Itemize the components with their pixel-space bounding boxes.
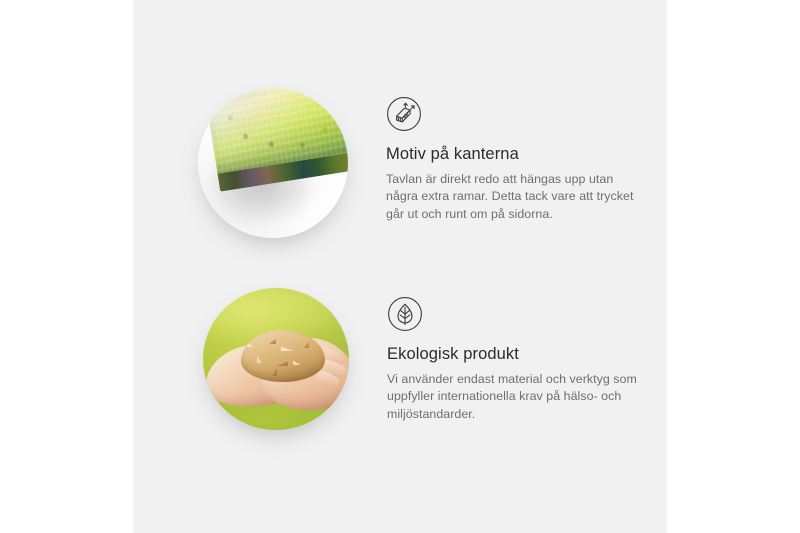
canvas-print-photo [198, 88, 348, 238]
leaf-icon [387, 296, 423, 332]
eco-photo-backdrop [203, 288, 349, 430]
content-panel: Motiv på kanterna Tavlan är direkt redo … [133, 0, 667, 533]
feature-block-ekologisk-produkt: Ekologisk produkt Vi använder endast mat… [203, 288, 649, 430]
feature-title: Ekologisk produkt [387, 344, 649, 365]
canvas-wrapped-edge-icon [386, 96, 422, 132]
canvas-print-object [203, 88, 348, 238]
feature-block-motiv-pa-kanterna: Motiv på kanterna Tavlan är direkt redo … [198, 88, 636, 238]
eco-wood-chips-photo [203, 288, 349, 430]
product-feature-infographic: Motiv på kanterna Tavlan är direkt redo … [0, 0, 800, 533]
feature-description: Tavlan är direkt redo att hängas upp uta… [386, 171, 636, 224]
feature-copy: Ekologisk produkt Vi använder endast mat… [387, 288, 649, 423]
feature-copy: Motiv på kanterna Tavlan är direkt redo … [386, 88, 636, 223]
feature-title: Motiv på kanterna [386, 144, 636, 165]
canvas-photo-backdrop [198, 88, 348, 238]
feature-description: Vi använder endast material och verktyg … [387, 371, 649, 424]
